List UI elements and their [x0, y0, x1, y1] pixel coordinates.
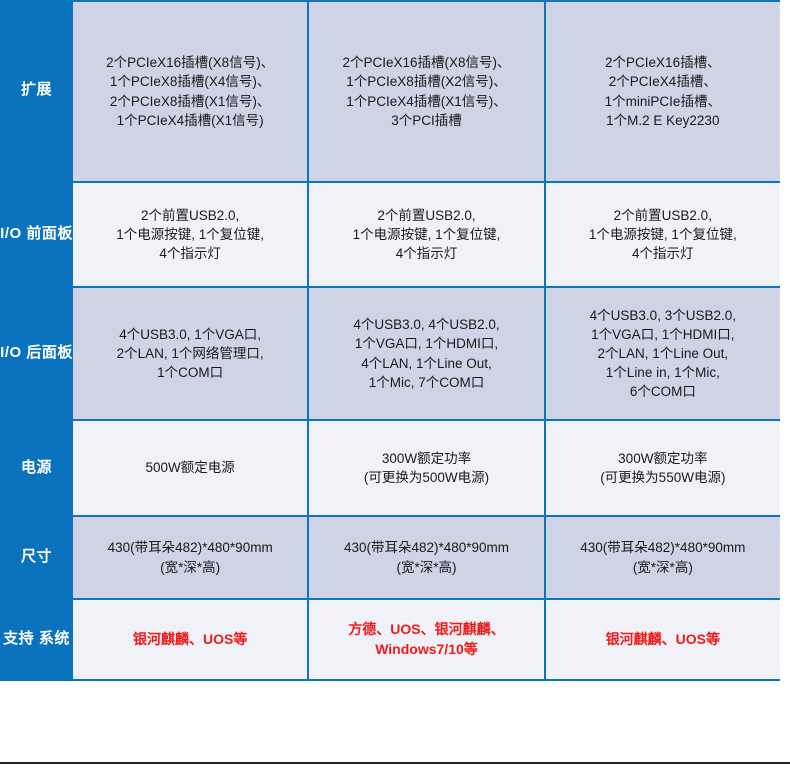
- row-cells-supported-os: 银河麒麟、UOS等 方德、UOS、银河麒麟、 Windows7/10等 银河麒麟…: [73, 600, 780, 679]
- row-header-power-supply: 电源: [0, 421, 73, 517]
- cell-dimensions-model-1: 430(带耳朵482)*480*90mm (宽*深*高): [73, 517, 309, 598]
- cell-power-model-3: 300W额定功率 (可更换为550W电源): [546, 421, 780, 515]
- cell-io-rear-model-1: 4个USB3.0, 1个VGA口, 2个LAN, 1个网络管理口, 1个COM口: [73, 288, 309, 419]
- cell-power-model-1: 500W额定电源: [73, 421, 309, 515]
- row-header-io-front-panel: I/O 前面板: [0, 183, 73, 288]
- row-cells-io-front-panel: 2个前置USB2.0, 1个电源按键, 1个复位键, 4个指示灯 2个前置USB…: [73, 183, 780, 286]
- row-cells-dimensions: 430(带耳朵482)*480*90mm (宽*深*高) 430(带耳朵482)…: [73, 517, 780, 598]
- cell-io-rear-model-3: 4个USB3.0, 3个USB2.0, 1个VGA口, 1个HDMI口, 2个L…: [546, 288, 780, 419]
- cell-expansion-model-2: 2个PCIeX16插槽(X8信号)、 1个PCIeX8插槽(X2信号)、 1个P…: [309, 0, 545, 181]
- row-header-expansion: 扩展: [0, 0, 73, 183]
- cell-supported-os-model-3: 银河麒麟、UOS等: [546, 600, 780, 679]
- row-cells-power-supply: 500W额定电源 300W额定功率 (可更换为500W电源) 300W额定功率 …: [73, 421, 780, 515]
- specification-table: 扩展 2个PCIeX16插槽(X8信号)、 1个PCIeX8插槽(X4信号)、 …: [0, 0, 780, 681]
- cell-expansion-model-3: 2个PCIeX16插槽、 2个PCIeX4插槽、 1个miniPCIe插槽、 1…: [546, 0, 780, 181]
- cell-power-model-2: 300W额定功率 (可更换为500W电源): [309, 421, 545, 515]
- table-row-expansion: 扩展 2个PCIeX16插槽(X8信号)、 1个PCIeX8插槽(X4信号)、 …: [0, 0, 780, 183]
- row-cells-io-rear-panel: 4个USB3.0, 1个VGA口, 2个LAN, 1个网络管理口, 1个COM口…: [73, 288, 780, 419]
- row-header-io-rear-panel: I/O 后面板: [0, 288, 73, 421]
- cell-io-front-model-1: 2个前置USB2.0, 1个电源按键, 1个复位键, 4个指示灯: [73, 183, 309, 286]
- cell-io-front-model-2: 2个前置USB2.0, 1个电源按键, 1个复位键, 4个指示灯: [309, 183, 545, 286]
- table-row-dimensions: 尺寸 430(带耳朵482)*480*90mm (宽*深*高) 430(带耳朵4…: [0, 517, 780, 600]
- page-bottom-divider: [0, 762, 790, 764]
- cell-supported-os-model-1: 银河麒麟、UOS等: [73, 600, 309, 679]
- table-row-power-supply: 电源 500W额定电源 300W额定功率 (可更换为500W电源) 300W额定…: [0, 421, 780, 517]
- cell-io-front-model-3: 2个前置USB2.0, 1个电源按键, 1个复位键, 4个指示灯: [546, 183, 780, 286]
- row-header-dimensions: 尺寸: [0, 517, 73, 600]
- table-row-io-rear-panel: I/O 后面板 4个USB3.0, 1个VGA口, 2个LAN, 1个网络管理口…: [0, 288, 780, 421]
- cell-expansion-model-1: 2个PCIeX16插槽(X8信号)、 1个PCIeX8插槽(X4信号)、 2个P…: [73, 0, 309, 181]
- table-row-supported-os: 支持 系统 银河麒麟、UOS等 方德、UOS、银河麒麟、 Windows7/10…: [0, 600, 780, 681]
- table-row-io-front-panel: I/O 前面板 2个前置USB2.0, 1个电源按键, 1个复位键, 4个指示灯…: [0, 183, 780, 288]
- cell-dimensions-model-3: 430(带耳朵482)*480*90mm (宽*深*高): [546, 517, 780, 598]
- cell-io-rear-model-2: 4个USB3.0, 4个USB2.0, 1个VGA口, 1个HDMI口, 4个L…: [309, 288, 545, 419]
- row-cells-expansion: 2个PCIeX16插槽(X8信号)、 1个PCIeX8插槽(X4信号)、 2个P…: [73, 0, 780, 181]
- cell-supported-os-model-2: 方德、UOS、银河麒麟、 Windows7/10等: [309, 600, 545, 679]
- cell-dimensions-model-2: 430(带耳朵482)*480*90mm (宽*深*高): [309, 517, 545, 598]
- row-header-supported-os: 支持 系统: [0, 600, 73, 681]
